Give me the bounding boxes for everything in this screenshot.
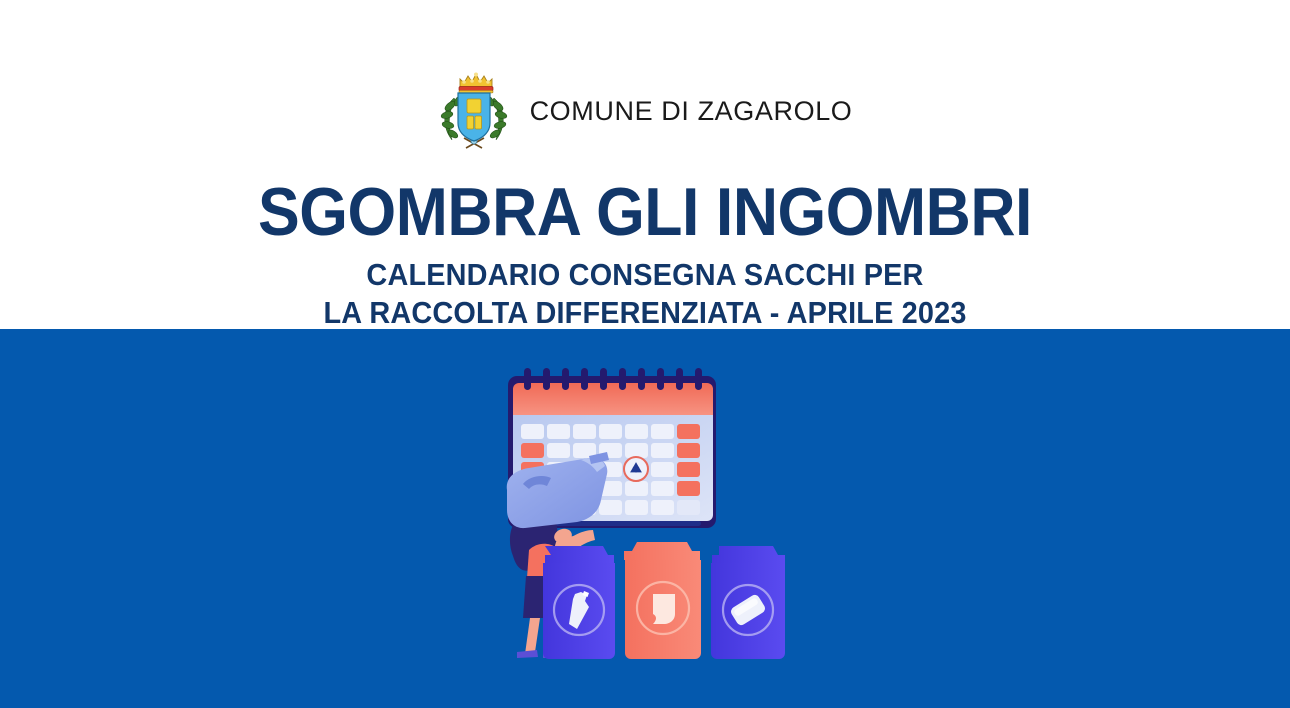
page-subtitle: CALENDARIO CONSEGNA SACCHI PER LA RACCOL…: [45, 256, 1245, 332]
bin-plastic: [543, 546, 615, 659]
recycle-icon: [624, 457, 648, 481]
poster-root: COMUNE DI ZAGAROLO SGOMBRA GLI INGOMBRI …: [0, 0, 1290, 708]
brand-row: COMUNE DI ZAGAROLO: [0, 68, 1290, 154]
page-subtitle-line1: CALENDARIO CONSEGNA SACCHI PER: [366, 257, 923, 292]
header-section: COMUNE DI ZAGAROLO SGOMBRA GLI INGOMBRI …: [0, 0, 1290, 329]
bin-plastic-lid: [545, 546, 614, 563]
paper-icon: [653, 594, 675, 624]
bin-glass: [711, 546, 785, 659]
page-subtitle-line2: LA RACCOLTA DIFFERENZIATA - APRILE 2023: [45, 294, 1245, 332]
calendar-header: [513, 383, 713, 415]
bin-paper-lid: [624, 542, 700, 560]
page-title: SGOMBRA GLI INGOMBRI: [52, 178, 1239, 246]
bin-glass-lid: [712, 546, 785, 563]
brand-name: COMUNE DI ZAGAROLO: [530, 98, 853, 125]
bin-paper: [624, 542, 701, 659]
waste-calendar-illustration: [485, 360, 815, 680]
zagarolo-coat-of-arms-icon: [438, 68, 510, 154]
